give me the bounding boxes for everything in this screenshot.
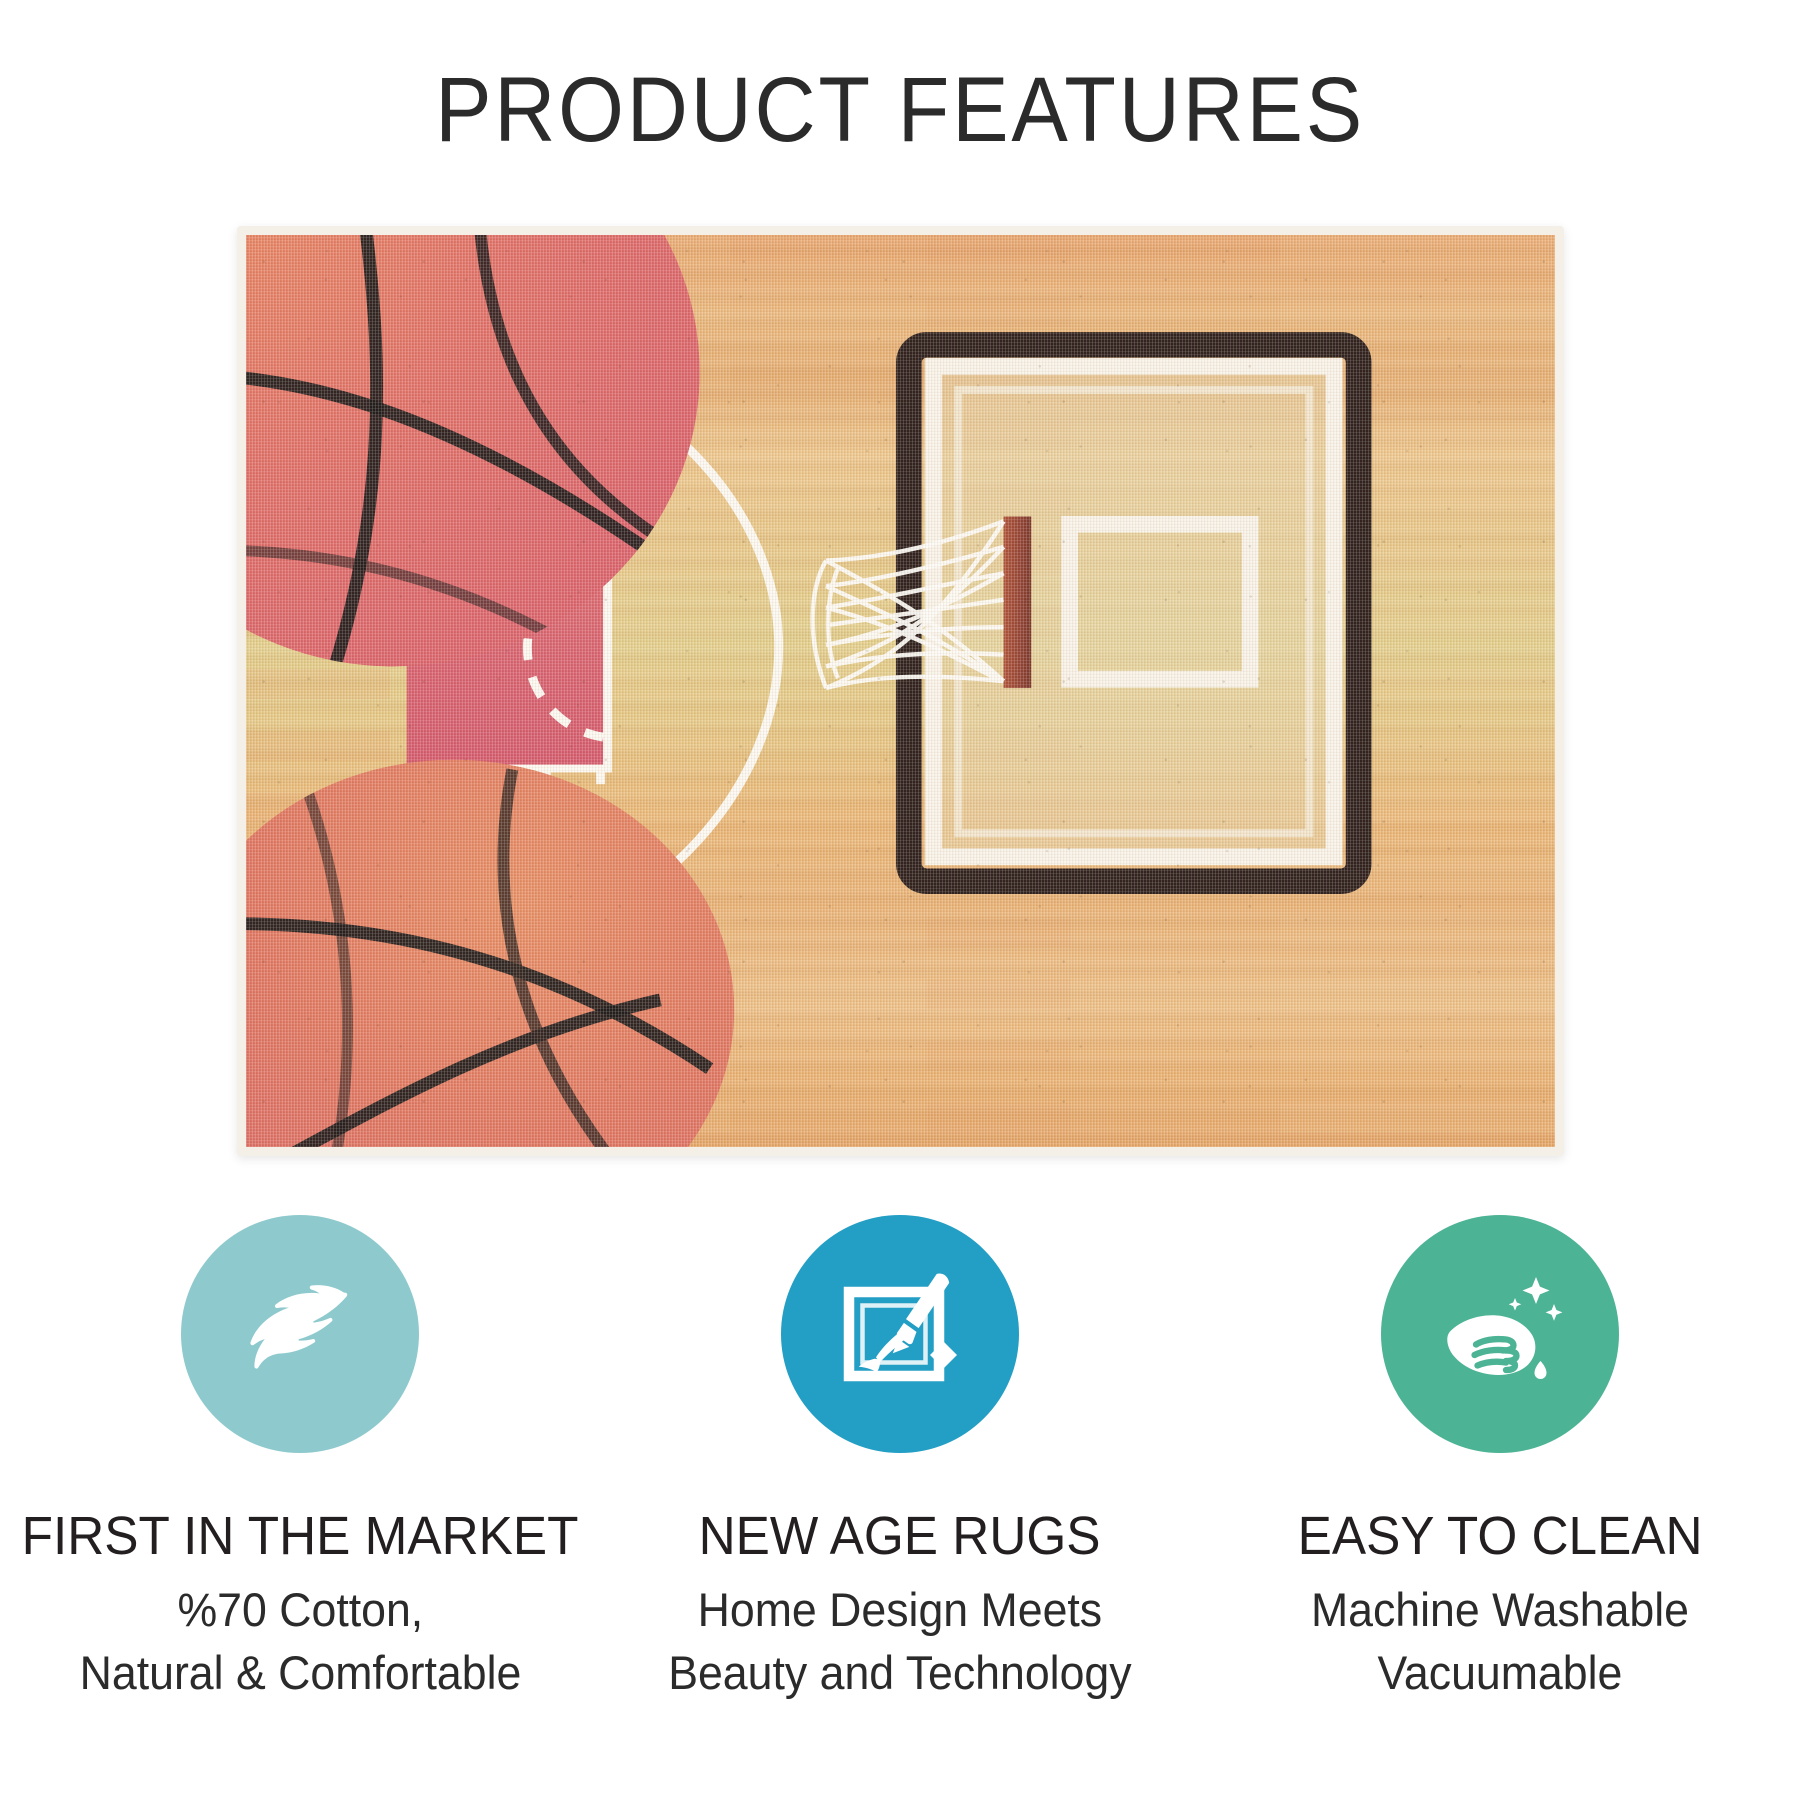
feature-line-2: Natural & Comfortable bbox=[79, 1642, 521, 1703]
page-title: PRODUCT FEATURES bbox=[72, 58, 1728, 163]
features-row: FIRST IN THE MARKET %70 Cotton, Natural … bbox=[0, 1215, 1800, 1703]
basketball-court-rug-image bbox=[237, 226, 1564, 1156]
design-badge bbox=[781, 1215, 1019, 1453]
product-features-page: PRODUCT FEATURES bbox=[0, 0, 1800, 1800]
feature-title: FIRST IN THE MARKET bbox=[22, 1509, 579, 1563]
feature-line-1: %70 Cotton, bbox=[177, 1579, 423, 1640]
feature-line-1: Machine Washable bbox=[1311, 1579, 1689, 1640]
design-pen-brush-icon bbox=[825, 1259, 975, 1409]
feature-easy-to-clean: EASY TO CLEAN Machine Washable Vacuumabl… bbox=[1200, 1215, 1800, 1703]
basketball-rim bbox=[1004, 516, 1032, 688]
product-image-wrapper bbox=[237, 226, 1564, 1156]
backboard-and-hoop bbox=[246, 235, 1555, 1147]
feather-badge bbox=[181, 1215, 419, 1453]
clean-badge bbox=[1381, 1215, 1619, 1453]
hand-wash-sparkle-icon bbox=[1425, 1259, 1575, 1409]
feature-line-1: Home Design Meets bbox=[698, 1579, 1102, 1640]
feature-line-2: Beauty and Technology bbox=[668, 1642, 1131, 1703]
feature-new-age-rugs: NEW AGE RUGS Home Design Meets Beauty an… bbox=[600, 1215, 1200, 1703]
feature-line-2: Vacuumable bbox=[1378, 1642, 1623, 1703]
feature-title: EASY TO CLEAN bbox=[1298, 1509, 1703, 1563]
feather-icon bbox=[225, 1259, 375, 1409]
feature-title: NEW AGE RUGS bbox=[699, 1509, 1101, 1563]
feature-first-in-the-market: FIRST IN THE MARKET %70 Cotton, Natural … bbox=[0, 1215, 600, 1703]
